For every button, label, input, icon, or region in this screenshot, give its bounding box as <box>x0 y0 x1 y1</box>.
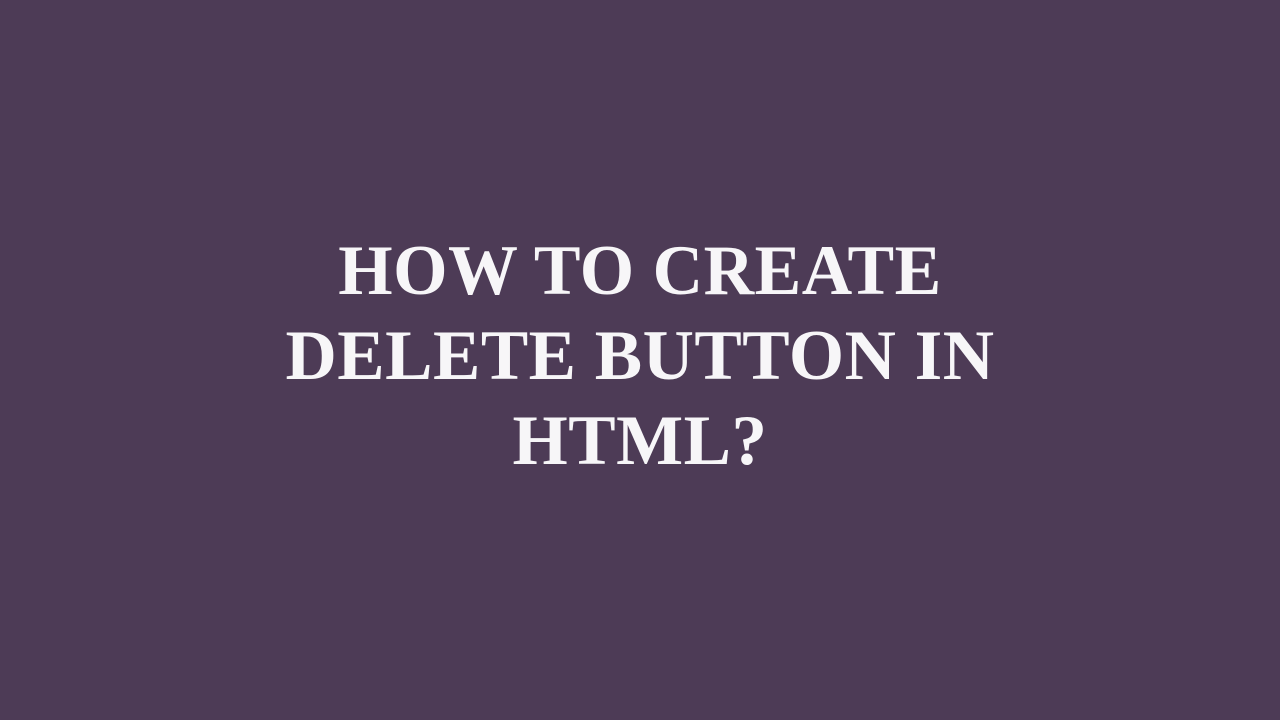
title-line-2: DELETE BUTTON IN <box>160 314 1120 399</box>
slide-canvas: HOW TO CREATE DELETE BUTTON IN HTML? <box>0 0 1280 720</box>
title-line-1: HOW TO CREATE <box>167 229 1113 314</box>
title-line-3: HTML? <box>160 399 1120 484</box>
page-title: HOW TO CREATE DELETE BUTTON IN HTML? <box>160 229 1120 484</box>
